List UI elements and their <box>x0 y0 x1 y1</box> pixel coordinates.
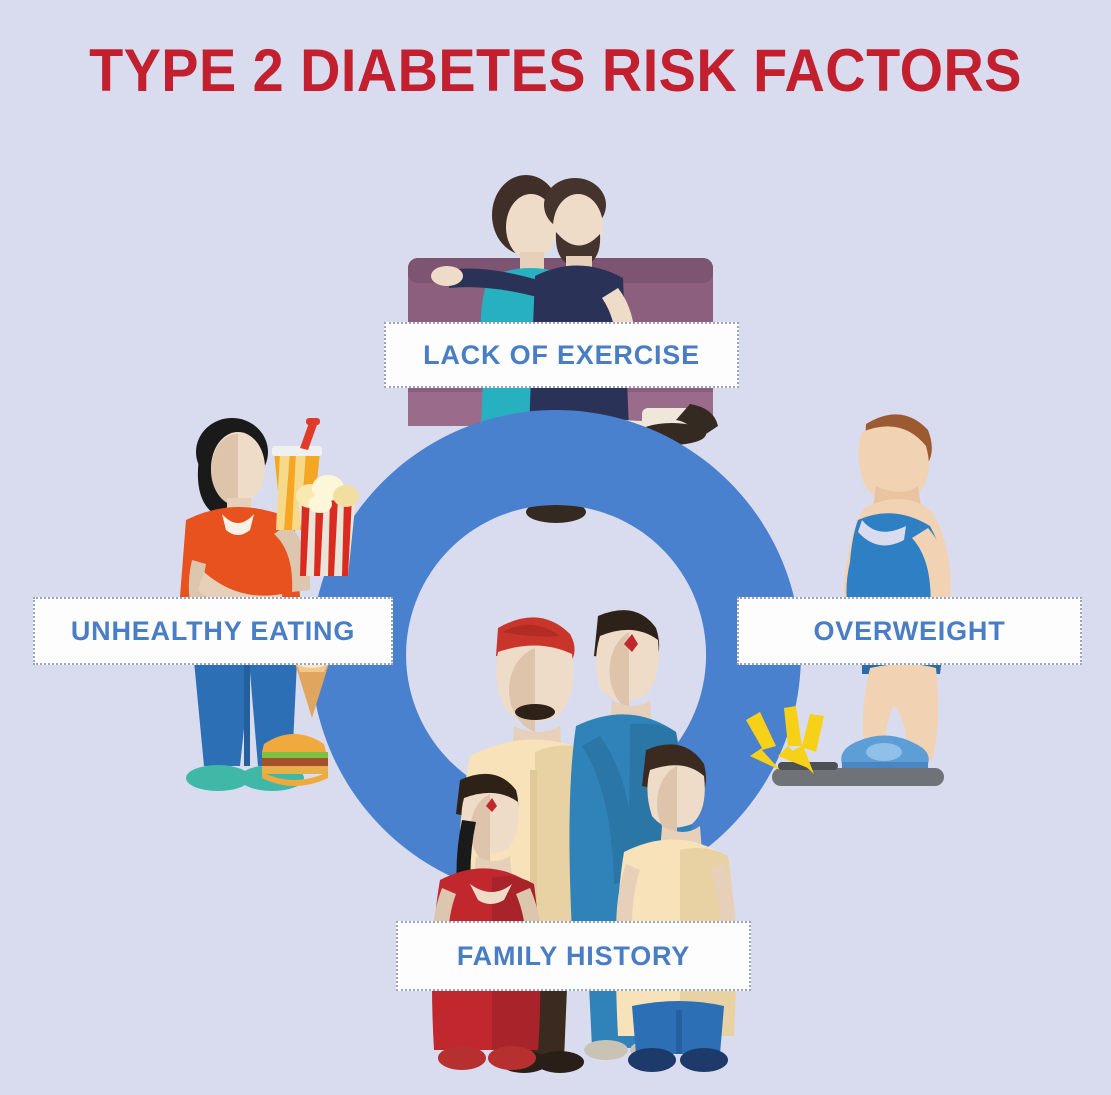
popcorn-icon <box>296 475 359 576</box>
label-unhealthy-eating[interactable]: UNHEALTHY EATING <box>33 597 393 665</box>
label-lack-of-exercise[interactable]: LACK OF EXERCISE <box>384 322 739 388</box>
label-text-lack-of-exercise: LACK OF EXERCISE <box>423 340 700 371</box>
label-text-overweight: OVERWEIGHT <box>813 616 1005 647</box>
label-family-history[interactable]: FAMILY HISTORY <box>396 921 751 991</box>
label-text-family-history: FAMILY HISTORY <box>457 941 690 972</box>
label-overweight[interactable]: OVERWEIGHT <box>737 597 1082 665</box>
label-text-unhealthy-eating: UNHEALTHY EATING <box>71 616 355 647</box>
page-title: TYPE 2 DIABETES RISK FACTORS <box>39 36 1072 105</box>
infographic-canvas: TYPE 2 DIABETES RISK FACTORS LACK OF EXE… <box>0 0 1111 1095</box>
illustration-family-history <box>432 610 737 1073</box>
